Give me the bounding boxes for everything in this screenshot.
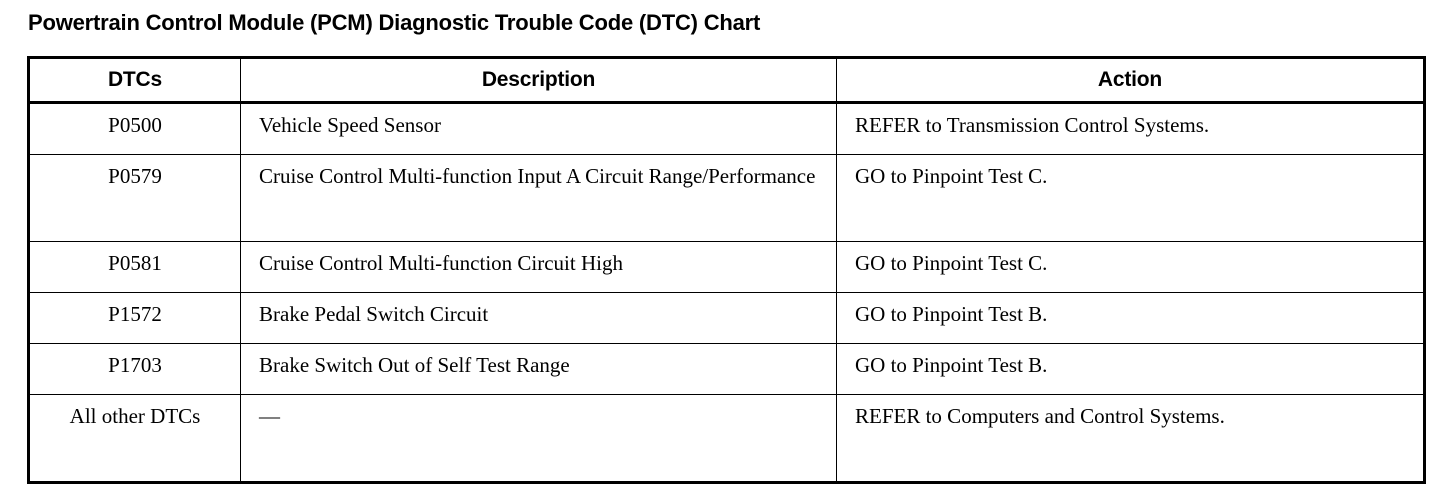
dtc-chart-page: Powertrain Control Module (PCM) Diagnost…: [0, 0, 1456, 450]
column-header-dtcs: DTCs: [29, 58, 241, 103]
cell-description: Cruise Control Multi-function Circuit Hi…: [241, 242, 837, 293]
table-row: P0581 Cruise Control Multi-function Circ…: [29, 242, 1425, 293]
cell-description: Brake Pedal Switch Circuit: [241, 293, 837, 344]
table-body: P0500 Vehicle Speed Sensor REFER to Tran…: [29, 103, 1425, 483]
cell-dtc-code: P1572: [29, 293, 241, 344]
table-header: DTCs Description Action: [29, 58, 1425, 103]
cell-dtc-code: P0579: [29, 155, 241, 242]
table-row: P1703 Brake Switch Out of Self Test Rang…: [29, 344, 1425, 395]
cell-dtc-code: All other DTCs: [29, 395, 241, 483]
cell-description: Brake Switch Out of Self Test Range: [241, 344, 837, 395]
cell-dtc-code: P0581: [29, 242, 241, 293]
cell-action: GO to Pinpoint Test C.: [837, 155, 1425, 242]
cell-action: REFER to Transmission Control Systems.: [837, 103, 1425, 155]
cell-description: Vehicle Speed Sensor: [241, 103, 837, 155]
cell-action: REFER to Computers and Control Systems.: [837, 395, 1425, 483]
cell-dtc-code: P1703: [29, 344, 241, 395]
cell-action: GO to Pinpoint Test B.: [837, 344, 1425, 395]
dtc-table-container: DTCs Description Action P0500 Vehicle Sp…: [27, 56, 1423, 484]
column-header-description: Description: [241, 58, 837, 103]
table-header-row: DTCs Description Action: [29, 58, 1425, 103]
table-row: P0579 Cruise Control Multi-function Inpu…: [29, 155, 1425, 242]
table-row: All other DTCs — REFER to Computers and …: [29, 395, 1425, 483]
cell-action: GO to Pinpoint Test B.: [837, 293, 1425, 344]
table-row: P0500 Vehicle Speed Sensor REFER to Tran…: [29, 103, 1425, 155]
dtc-chart-table: DTCs Description Action P0500 Vehicle Sp…: [27, 56, 1426, 484]
table-row: P1572 Brake Pedal Switch Circuit GO to P…: [29, 293, 1425, 344]
cell-action: GO to Pinpoint Test C.: [837, 242, 1425, 293]
column-header-action: Action: [837, 58, 1425, 103]
cell-dtc-code: P0500: [29, 103, 241, 155]
page-title: Powertrain Control Module (PCM) Diagnost…: [28, 9, 760, 37]
cell-description: Cruise Control Multi-function Input A Ci…: [241, 155, 837, 242]
cell-description: —: [241, 395, 837, 483]
